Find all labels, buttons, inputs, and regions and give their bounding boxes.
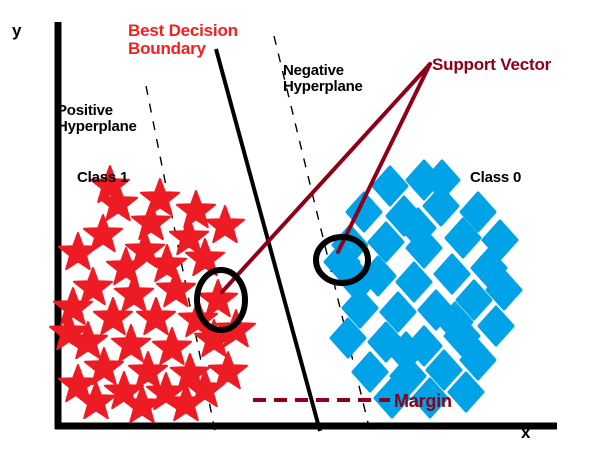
support-vector-label: Support Vector xyxy=(432,56,551,74)
positive-hyperplane-label: Positive Hyperplane xyxy=(57,103,137,135)
class-0-diamond-marker xyxy=(353,353,387,391)
class-1-star-marker xyxy=(153,328,191,364)
margin-label: Margin xyxy=(394,392,452,411)
class-1-markers-group xyxy=(50,166,255,422)
best-decision-boundary-label: Best Decision Boundary xyxy=(128,22,238,59)
svm-diagram-canvas: y x Best Decision Boundary Positive Hype… xyxy=(0,0,605,453)
class-1-star-marker xyxy=(199,280,237,316)
class-1-star-marker xyxy=(206,206,244,242)
class-1-star-marker xyxy=(141,179,179,215)
class-0-diamond-marker xyxy=(479,307,513,345)
class-1-star-marker xyxy=(59,233,97,269)
negative-hyperplane-label: Negative Hyperplane xyxy=(283,63,363,95)
class-0-label: Class 0 xyxy=(470,170,521,186)
class-1-label: Class 1 xyxy=(77,170,128,186)
class-0-diamond-marker xyxy=(397,263,431,301)
class-0-diamond-marker xyxy=(435,255,469,293)
y-axis-label: y xyxy=(12,22,21,40)
class-1-star-marker xyxy=(74,268,112,304)
x-axis-label: x xyxy=(521,424,530,442)
class-0-markers-group xyxy=(325,161,521,417)
